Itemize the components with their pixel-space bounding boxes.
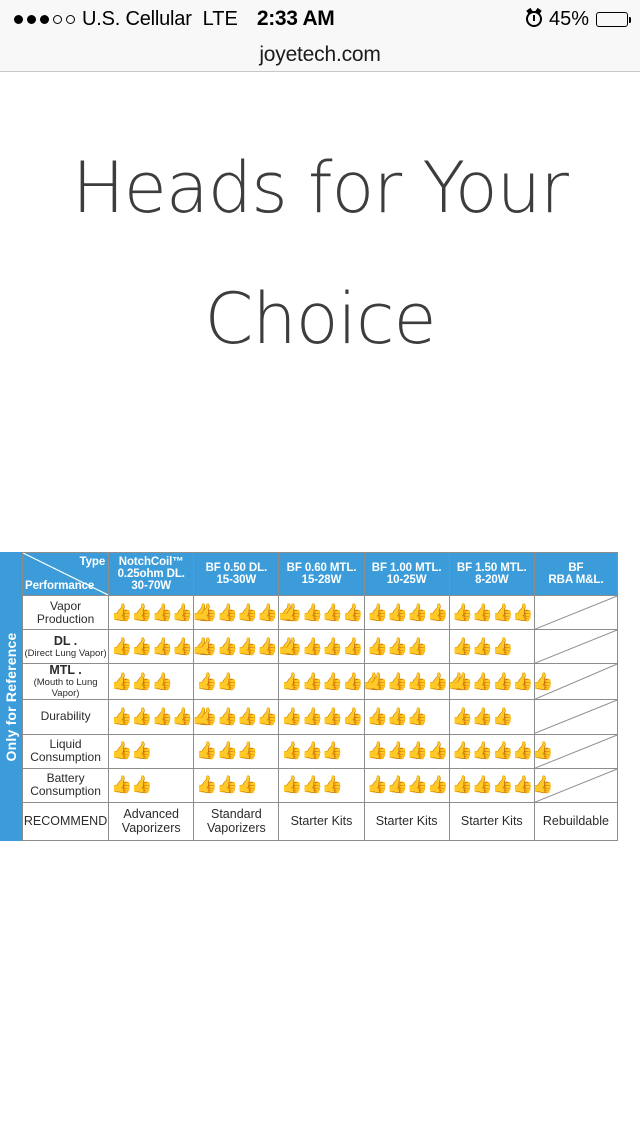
thumbs-group: 👍👍👍👍 (279, 638, 363, 656)
thumbs-group: 👍👍👍👍👍 (194, 604, 278, 622)
thumbs-up-icon: 👍 (512, 742, 532, 760)
thumbs-up-icon: 👍 (452, 776, 472, 794)
col3-line1: BF 1.00 MTL. (365, 562, 449, 574)
thumbs-up-icon: 👍 (281, 708, 301, 726)
row-label-sub: (Mouth to Lung Vapor) (23, 677, 108, 699)
thumbs-up-icon: 👍 (237, 638, 257, 656)
thumbs-up-icon: 👍 (407, 742, 427, 760)
rating-cell: 👍👍👍 (449, 700, 534, 734)
table-row: Durability👍👍👍👍👍👍👍👍👍👍👍👍👍👍👍👍👍👍👍 (23, 700, 618, 734)
thumbs-up-icon: 👍 (172, 604, 192, 622)
page-title-line-2: Choice (0, 254, 640, 385)
thumbs-group: 👍👍👍 (450, 708, 534, 726)
table-row: DL .(Direct Lung Vapor)👍👍👍👍👍👍👍👍👍👍👍👍👍👍👍👍👍… (23, 630, 618, 664)
thumbs-up-icon: 👍 (492, 638, 512, 656)
row-label: MTL .(Mouth to Lung Vapor) (23, 664, 109, 700)
thumbs-up-icon: 👍 (237, 708, 257, 726)
col2-line2: 15-28W (279, 574, 363, 586)
thumbs-up-icon: 👍 (407, 776, 427, 794)
table-header: Type Performance NotchCoil™ 0.25ohm DL. … (23, 553, 618, 596)
comparison-table-container: Only for Reference (0, 552, 640, 841)
row-label-abbr: MTL . (49, 663, 81, 677)
thumbs-up-icon: 👍 (196, 673, 216, 691)
col0-line3: 30-70W (109, 580, 193, 592)
rating-cell: 👍👍👍👍👍 (449, 664, 534, 700)
thumbs-up-icon: 👍 (216, 673, 236, 691)
thumbs-up-icon: 👍 (387, 708, 407, 726)
rating-cell: 👍👍👍 (194, 734, 279, 768)
thumbs-group: 👍👍👍 (109, 673, 193, 691)
thumbs-group: 👍👍👍👍👍 (279, 673, 363, 691)
rating-cell: 👍👍👍 (364, 700, 449, 734)
thumbs-up-icon: 👍 (111, 776, 131, 794)
thumbs-up-icon: 👍 (131, 776, 151, 794)
thumbs-up-icon: 👍 (367, 708, 387, 726)
rating-cell: 👍👍👍👍👍 (109, 630, 194, 664)
thumbs-group: 👍👍👍 (194, 742, 278, 760)
thumbs-up-icon: 👍 (512, 604, 532, 622)
thumbs-group: 👍👍 (194, 673, 278, 691)
thumbs-up-icon: 👍 (237, 742, 257, 760)
thumbs-up-icon: 👍 (472, 708, 492, 726)
thumbs-up-icon: 👍 (131, 708, 151, 726)
corner-type-label: Type (80, 556, 106, 568)
column-header-bf-060-mtl: BF 0.60 MTL. 15-28W (279, 553, 364, 596)
thumbs-up-icon: 👍 (196, 638, 216, 656)
thumbs-group: 👍👍👍👍👍 (365, 673, 449, 691)
thumbs-up-icon: 👍 (367, 673, 387, 691)
thumbs-up-icon: 👍 (472, 638, 492, 656)
thumbs-group: 👍👍 (109, 776, 193, 794)
signal-strength-icon (14, 15, 75, 24)
thumbs-up-icon: 👍 (342, 673, 362, 691)
thumbs-up-icon: 👍 (427, 742, 447, 760)
thumbs-up-icon: 👍 (131, 604, 151, 622)
col4-line1: BF 1.50 MTL. (450, 562, 534, 574)
thumbs-up-icon: 👍 (492, 604, 512, 622)
thumbs-up-icon: 👍 (302, 604, 322, 622)
thumbs-up-icon: 👍 (452, 604, 472, 622)
thumbs-group: 👍👍👍👍 (365, 604, 449, 622)
thumbs-up-icon: 👍 (302, 638, 322, 656)
thumbs-group: 👍👍👍👍👍 (109, 708, 193, 726)
thumbs-up-icon: 👍 (196, 604, 216, 622)
thumbs-up-icon: 👍 (257, 638, 277, 656)
col1-line1: BF 0.50 DL. (194, 562, 278, 574)
rating-cell: 👍👍👍👍 (279, 630, 364, 664)
table-row: Battery Consumption👍👍👍👍👍👍👍👍👍👍👍👍👍👍👍👍👍 (23, 768, 618, 802)
thumbs-up-icon: 👍 (367, 742, 387, 760)
col4-line2: 8-20W (450, 574, 534, 586)
thumbs-up-icon: 👍 (216, 708, 236, 726)
col5-line1: BF (535, 562, 617, 574)
thumbs-up-icon: 👍 (367, 776, 387, 794)
rating-cell: 👍👍👍👍👍 (279, 664, 364, 700)
rating-cell: 👍👍 (109, 734, 194, 768)
thumbs-up-icon: 👍 (281, 604, 301, 622)
rating-cell: 👍👍👍 (449, 630, 534, 664)
table-corner-cell: Type Performance (23, 553, 109, 596)
table-row: Liquid Consumption👍👍👍👍👍👍👍👍👍👍👍👍👍👍👍👍👍 (23, 734, 618, 768)
table-header-row: Type Performance NotchCoil™ 0.25ohm DL. … (23, 553, 618, 596)
thumbs-group: 👍👍👍👍👍 (450, 742, 534, 760)
thumbs-up-icon: 👍 (427, 604, 447, 622)
thumbs-up-icon: 👍 (472, 776, 492, 794)
thumbs-up-icon: 👍 (131, 742, 151, 760)
thumbs-up-icon: 👍 (492, 673, 512, 691)
table-body: Vapor Production👍👍👍👍👍👍👍👍👍👍👍👍👍👍👍👍👍👍👍👍👍👍DL… (23, 596, 618, 841)
table-row: MTL .(Mouth to Lung Vapor)👍👍👍👍👍👍👍👍👍👍👍👍👍👍… (23, 664, 618, 700)
thumbs-up-icon: 👍 (196, 742, 216, 760)
thumbs-up-icon: 👍 (322, 776, 342, 794)
rating-cell: 👍👍👍👍👍 (449, 734, 534, 768)
thumbs-up-icon: 👍 (472, 742, 492, 760)
rating-cell: 👍👍👍👍👍 (194, 630, 279, 664)
column-header-bf-rba: BF RBA M&L. (534, 553, 617, 596)
status-bar-right: 45% (526, 0, 628, 38)
rating-cell: 👍👍👍👍 (364, 768, 449, 802)
col5-line2: RBA M&L. (535, 574, 617, 586)
thumbs-group: 👍👍👍👍👍 (109, 604, 193, 622)
thumbs-up-icon: 👍 (302, 776, 322, 794)
thumbs-up-icon: 👍 (427, 673, 447, 691)
col3-line2: 10-25W (365, 574, 449, 586)
thumbs-up-icon: 👍 (492, 708, 512, 726)
thumbs-up-icon: 👍 (216, 638, 236, 656)
column-header-bf-050-dl: BF 0.50 DL. 15-30W (194, 553, 279, 596)
thumbs-group: 👍👍👍👍👍 (450, 776, 534, 794)
rating-cell: 👍👍👍 (194, 768, 279, 802)
thumbs-up-icon: 👍 (131, 673, 151, 691)
thumbs-up-icon: 👍 (111, 638, 131, 656)
thumbs-group: 👍👍👍 (194, 776, 278, 794)
row-label: DL .(Direct Lung Vapor) (23, 630, 109, 664)
thumbs-up-icon: 👍 (196, 708, 216, 726)
thumbs-up-icon: 👍 (216, 776, 236, 794)
row-label-abbr: DL . (54, 634, 77, 648)
empty-cell-diagonal-icon (535, 735, 617, 768)
thumbs-up-icon: 👍 (452, 638, 472, 656)
thumbs-up-icon: 👍 (492, 776, 512, 794)
rating-cell: 👍👍👍👍👍 (109, 700, 194, 734)
thumbs-up-icon: 👍 (172, 638, 192, 656)
coil-comparison-table: Type Performance NotchCoil™ 0.25ohm DL. … (22, 552, 618, 841)
thumbs-up-icon: 👍 (281, 776, 301, 794)
empty-cell-diagonal-icon (535, 769, 617, 802)
rating-cell: 👍👍👍👍👍 (364, 664, 449, 700)
table-row: Vapor Production👍👍👍👍👍👍👍👍👍👍👍👍👍👍👍👍👍👍👍👍👍👍 (23, 596, 618, 630)
thumbs-group: 👍👍👍👍 (279, 708, 363, 726)
thumbs-up-icon: 👍 (322, 638, 342, 656)
thumbs-up-icon: 👍 (322, 673, 342, 691)
thumbs-group: 👍👍👍👍👍 (450, 673, 534, 691)
column-header-bf-100-mtl: BF 1.00 MTL. 10-25W (364, 553, 449, 596)
thumbs-up-icon: 👍 (407, 673, 427, 691)
col1-line2: 15-30W (194, 574, 278, 586)
thumbs-group: 👍👍👍👍 (365, 776, 449, 794)
rating-cell-empty (534, 596, 617, 630)
thumbs-up-icon: 👍 (367, 604, 387, 622)
column-header-notchcoil: NotchCoil™ 0.25ohm DL. 30-70W (109, 553, 194, 596)
recommend-value: Standard Vaporizers (194, 802, 279, 840)
thumbs-up-icon: 👍 (472, 604, 492, 622)
thumbs-up-icon: 👍 (151, 604, 171, 622)
rating-cell-empty (534, 768, 617, 802)
thumbs-up-icon: 👍 (342, 604, 362, 622)
thumbs-group: 👍👍👍👍 (450, 604, 534, 622)
rating-cell: 👍👍👍👍 (364, 596, 449, 630)
thumbs-up-icon: 👍 (387, 638, 407, 656)
thumbs-group: 👍👍👍👍 (365, 742, 449, 760)
recommend-value: Starter Kits (364, 802, 449, 840)
rating-cell: 👍👍👍 (364, 630, 449, 664)
row-label: Durability (23, 700, 109, 734)
thumbs-up-icon: 👍 (367, 638, 387, 656)
battery-icon (596, 12, 628, 27)
col2-line1: BF 0.60 MTL. (279, 562, 363, 574)
browser-url-bar[interactable]: joyetech.com (0, 38, 640, 72)
thumbs-up-icon: 👍 (322, 708, 342, 726)
rating-cell: 👍👍👍 (279, 734, 364, 768)
thumbs-up-icon: 👍 (111, 742, 131, 760)
clock-label: 2:33 AM (257, 7, 335, 31)
thumbs-up-icon: 👍 (257, 604, 277, 622)
thumbs-up-icon: 👍 (302, 673, 322, 691)
recommend-value: Starter Kits (449, 802, 534, 840)
thumbs-up-icon: 👍 (472, 673, 492, 691)
thumbs-up-icon: 👍 (281, 638, 301, 656)
recommend-value: Starter Kits (279, 802, 364, 840)
carrier-label: U.S. Cellular (82, 8, 192, 31)
thumbs-up-icon: 👍 (281, 742, 301, 760)
thumbs-up-icon: 👍 (512, 776, 532, 794)
thumbs-group: 👍👍👍👍👍 (194, 638, 278, 656)
rating-cell: 👍👍👍👍 (449, 596, 534, 630)
rating-cell: 👍👍 (109, 768, 194, 802)
thumbs-up-icon: 👍 (407, 708, 427, 726)
alarm-clock-icon (526, 11, 542, 27)
rating-cell-empty (534, 664, 617, 700)
status-bar-left: U.S. Cellular LTE 2:33 AM (14, 7, 335, 31)
thumbs-up-icon: 👍 (452, 673, 472, 691)
col0-line2: 0.25ohm DL. (109, 568, 193, 580)
rating-cell: 👍👍👍👍 (194, 700, 279, 734)
page-title-line-1: Heads for Your (0, 123, 640, 254)
empty-cell-diagonal-icon (535, 596, 617, 629)
corner-performance-label: Performance (25, 580, 94, 592)
rating-cell: 👍👍👍 (279, 768, 364, 802)
thumbs-group: 👍👍👍 (450, 638, 534, 656)
thumbs-up-icon: 👍 (196, 776, 216, 794)
thumbs-up-icon: 👍 (387, 673, 407, 691)
thumbs-up-icon: 👍 (387, 776, 407, 794)
ios-status-bar: U.S. Cellular LTE 2:33 AM 45% (0, 0, 640, 38)
empty-cell-diagonal-icon (535, 700, 617, 733)
rating-cell: 👍👍👍👍👍 (449, 768, 534, 802)
empty-cell-diagonal-icon (535, 664, 617, 699)
thumbs-up-icon: 👍 (322, 604, 342, 622)
row-label-sub: (Direct Lung Vapor) (23, 648, 108, 659)
thumbs-group: 👍👍 (109, 742, 193, 760)
rating-cell: 👍👍👍👍👍 (194, 596, 279, 630)
thumbs-up-icon: 👍 (512, 673, 532, 691)
thumbs-up-icon: 👍 (111, 708, 131, 726)
only-for-reference-tab: Only for Reference (0, 552, 22, 841)
col0-line1: NotchCoil™ (109, 556, 193, 568)
thumbs-up-icon: 👍 (281, 673, 301, 691)
thumbs-up-icon: 👍 (452, 742, 472, 760)
recommend-row: RECOMMENDAdvanced VaporizersStandard Vap… (23, 802, 618, 840)
thumbs-up-icon: 👍 (172, 708, 192, 726)
thumbs-up-icon: 👍 (322, 742, 342, 760)
rating-cell: 👍👍👍👍 (279, 700, 364, 734)
thumbs-up-icon: 👍 (427, 776, 447, 794)
thumbs-group: 👍👍👍👍 (194, 708, 278, 726)
row-label: Liquid Consumption (23, 734, 109, 768)
thumbs-group: 👍👍👍 (365, 708, 449, 726)
thumbs-up-icon: 👍 (302, 742, 322, 760)
rating-cell-empty (534, 700, 617, 734)
thumbs-up-icon: 👍 (216, 604, 236, 622)
thumbs-up-icon: 👍 (492, 742, 512, 760)
url-label[interactable]: joyetech.com (259, 43, 380, 67)
thumbs-up-icon: 👍 (387, 742, 407, 760)
thumbs-up-icon: 👍 (302, 708, 322, 726)
thumbs-up-icon: 👍 (387, 604, 407, 622)
rating-cell: 👍👍👍👍 (364, 734, 449, 768)
row-label: Battery Consumption (23, 768, 109, 802)
thumbs-group: 👍👍👍 (279, 742, 363, 760)
thumbs-up-icon: 👍 (237, 604, 257, 622)
thumbs-up-icon: 👍 (407, 604, 427, 622)
rating-cell-empty (534, 630, 617, 664)
empty-cell-diagonal-icon (535, 630, 617, 663)
rating-cell-empty (534, 734, 617, 768)
thumbs-up-icon: 👍 (342, 708, 362, 726)
thumbs-group: 👍👍👍👍👍 (109, 638, 193, 656)
thumbs-up-icon: 👍 (237, 776, 257, 794)
rating-cell: 👍👍👍👍👍 (109, 596, 194, 630)
thumbs-up-icon: 👍 (257, 708, 277, 726)
page-title: Heads for Your Choice (0, 123, 640, 385)
thumbs-group: 👍👍👍👍 (279, 604, 363, 622)
thumbs-up-icon: 👍 (111, 604, 131, 622)
recommend-value: Advanced Vaporizers (109, 802, 194, 840)
rating-cell: 👍👍 (194, 664, 279, 700)
thumbs-group: 👍👍👍 (365, 638, 449, 656)
row-label: Vapor Production (23, 596, 109, 630)
battery-percent-label: 45% (549, 8, 589, 31)
web-page-content: Heads for Your Heads for Your Choice Onl… (0, 73, 640, 1136)
rating-cell: 👍👍👍👍 (279, 596, 364, 630)
network-type-label: LTE (203, 8, 238, 31)
only-for-reference-label: Only for Reference (3, 632, 19, 761)
thumbs-up-icon: 👍 (342, 638, 362, 656)
thumbs-up-icon: 👍 (151, 673, 171, 691)
thumbs-up-icon: 👍 (407, 638, 427, 656)
rating-cell: 👍👍👍 (109, 664, 194, 700)
thumbs-up-icon: 👍 (111, 673, 131, 691)
recommend-value: Rebuildable (534, 802, 617, 840)
recommend-label: RECOMMEND (23, 802, 109, 840)
thumbs-up-icon: 👍 (131, 638, 151, 656)
thumbs-group: 👍👍👍 (279, 776, 363, 794)
thumbs-up-icon: 👍 (216, 742, 236, 760)
thumbs-up-icon: 👍 (151, 708, 171, 726)
thumbs-up-icon: 👍 (452, 708, 472, 726)
thumbs-up-icon: 👍 (151, 638, 171, 656)
column-header-bf-150-mtl: BF 1.50 MTL. 8-20W (449, 553, 534, 596)
